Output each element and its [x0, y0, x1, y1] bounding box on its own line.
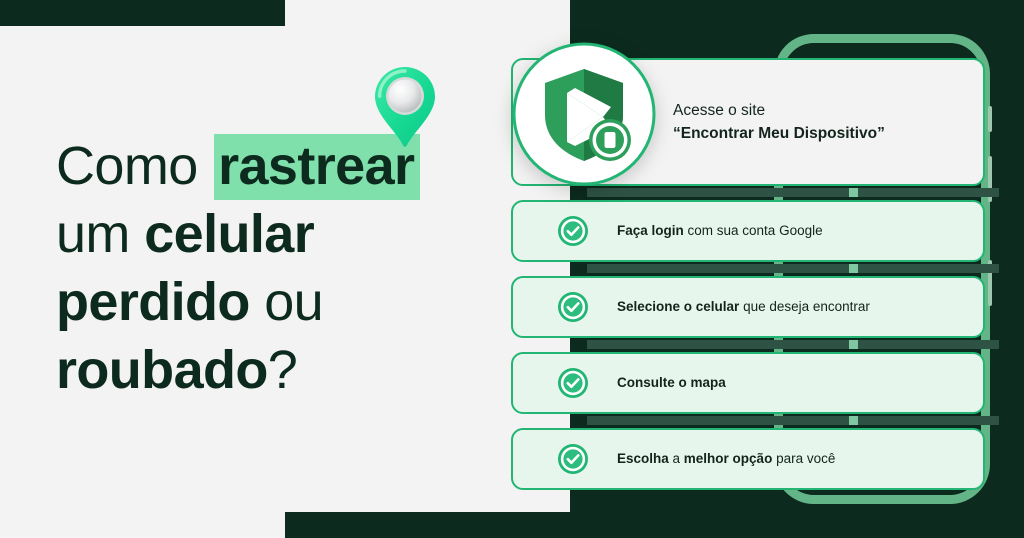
page-title: Como rastrear um celular perdido ou roub… — [56, 132, 486, 404]
headline-question-mark: ? — [268, 340, 297, 400]
connector-tick — [849, 188, 858, 197]
step-1-bold-1: Faça login — [617, 223, 684, 238]
check-circle-icon — [557, 215, 589, 247]
headline-word-um: um — [56, 204, 144, 264]
connector-tick — [849, 416, 858, 425]
step-4-plain-1: a — [669, 451, 684, 466]
check-circle-icon — [557, 443, 589, 475]
step-card-2[interactable]: Selecione o celular que deseja encontrar — [511, 276, 985, 338]
headline-word-roubado: roubado — [56, 340, 268, 400]
step-4-bold-1: Escolha — [617, 451, 669, 466]
step-card-3[interactable]: Consulte o mapa — [511, 352, 985, 414]
connector-tick — [849, 340, 858, 349]
connector-strip-1 — [587, 188, 999, 197]
connector-strip-4 — [587, 416, 999, 425]
connector-strip-3 — [587, 340, 999, 349]
header-card-line-1: Acesse o site — [673, 99, 885, 122]
map-pin-icon — [374, 66, 436, 148]
step-4-plain-2: para você — [772, 451, 835, 466]
decorative-band-bottom — [285, 512, 1024, 538]
step-card-2-text: Selecione o celular que deseja encontrar — [617, 298, 870, 316]
connector-strip-2 — [587, 264, 999, 273]
step-2-bold-1: Selecione o celular — [617, 299, 739, 314]
headline-line-4: roubado? — [56, 336, 486, 404]
step-card-4-text: Escolha a melhor opção para você — [617, 450, 835, 468]
step-card-3-text: Consulte o mapa — [617, 374, 726, 392]
headline-word-perdido: perdido — [56, 272, 250, 332]
step-4-bold-2: melhor opção — [684, 451, 773, 466]
headline-word-celular: celular — [144, 204, 314, 264]
infographic-canvas: Como rastrear um celular perdido ou roub… — [0, 0, 1024, 538]
check-circle-icon — [557, 291, 589, 323]
check-circle-icon — [557, 367, 589, 399]
step-card-1[interactable]: Faça login com sua conta Google — [511, 200, 985, 262]
step-3-bold-1: Consulte o mapa — [617, 375, 726, 390]
step-card-1-text: Faça login com sua conta Google — [617, 222, 823, 240]
step-2-plain-1: que deseja encontrar — [739, 299, 870, 314]
decorative-band-top-left — [0, 0, 285, 26]
header-card-line-2: “Encontrar Meu Dispositivo” — [673, 122, 885, 145]
shield-find-my-device-icon — [511, 41, 657, 187]
connector-tick — [849, 264, 858, 273]
headline-word-ou: ou — [250, 272, 323, 332]
header-card-text: Acesse o site “Encontrar Meu Dispositivo… — [673, 99, 885, 145]
headline-line-3: perdido ou — [56, 268, 486, 336]
headline-word-como: Como — [56, 136, 212, 196]
step-card-4[interactable]: Escolha a melhor opção para você — [511, 428, 985, 490]
step-1-plain-1: com sua conta Google — [684, 223, 823, 238]
headline-line-2: um celular — [56, 200, 486, 268]
phone-button-mute — [988, 106, 992, 132]
